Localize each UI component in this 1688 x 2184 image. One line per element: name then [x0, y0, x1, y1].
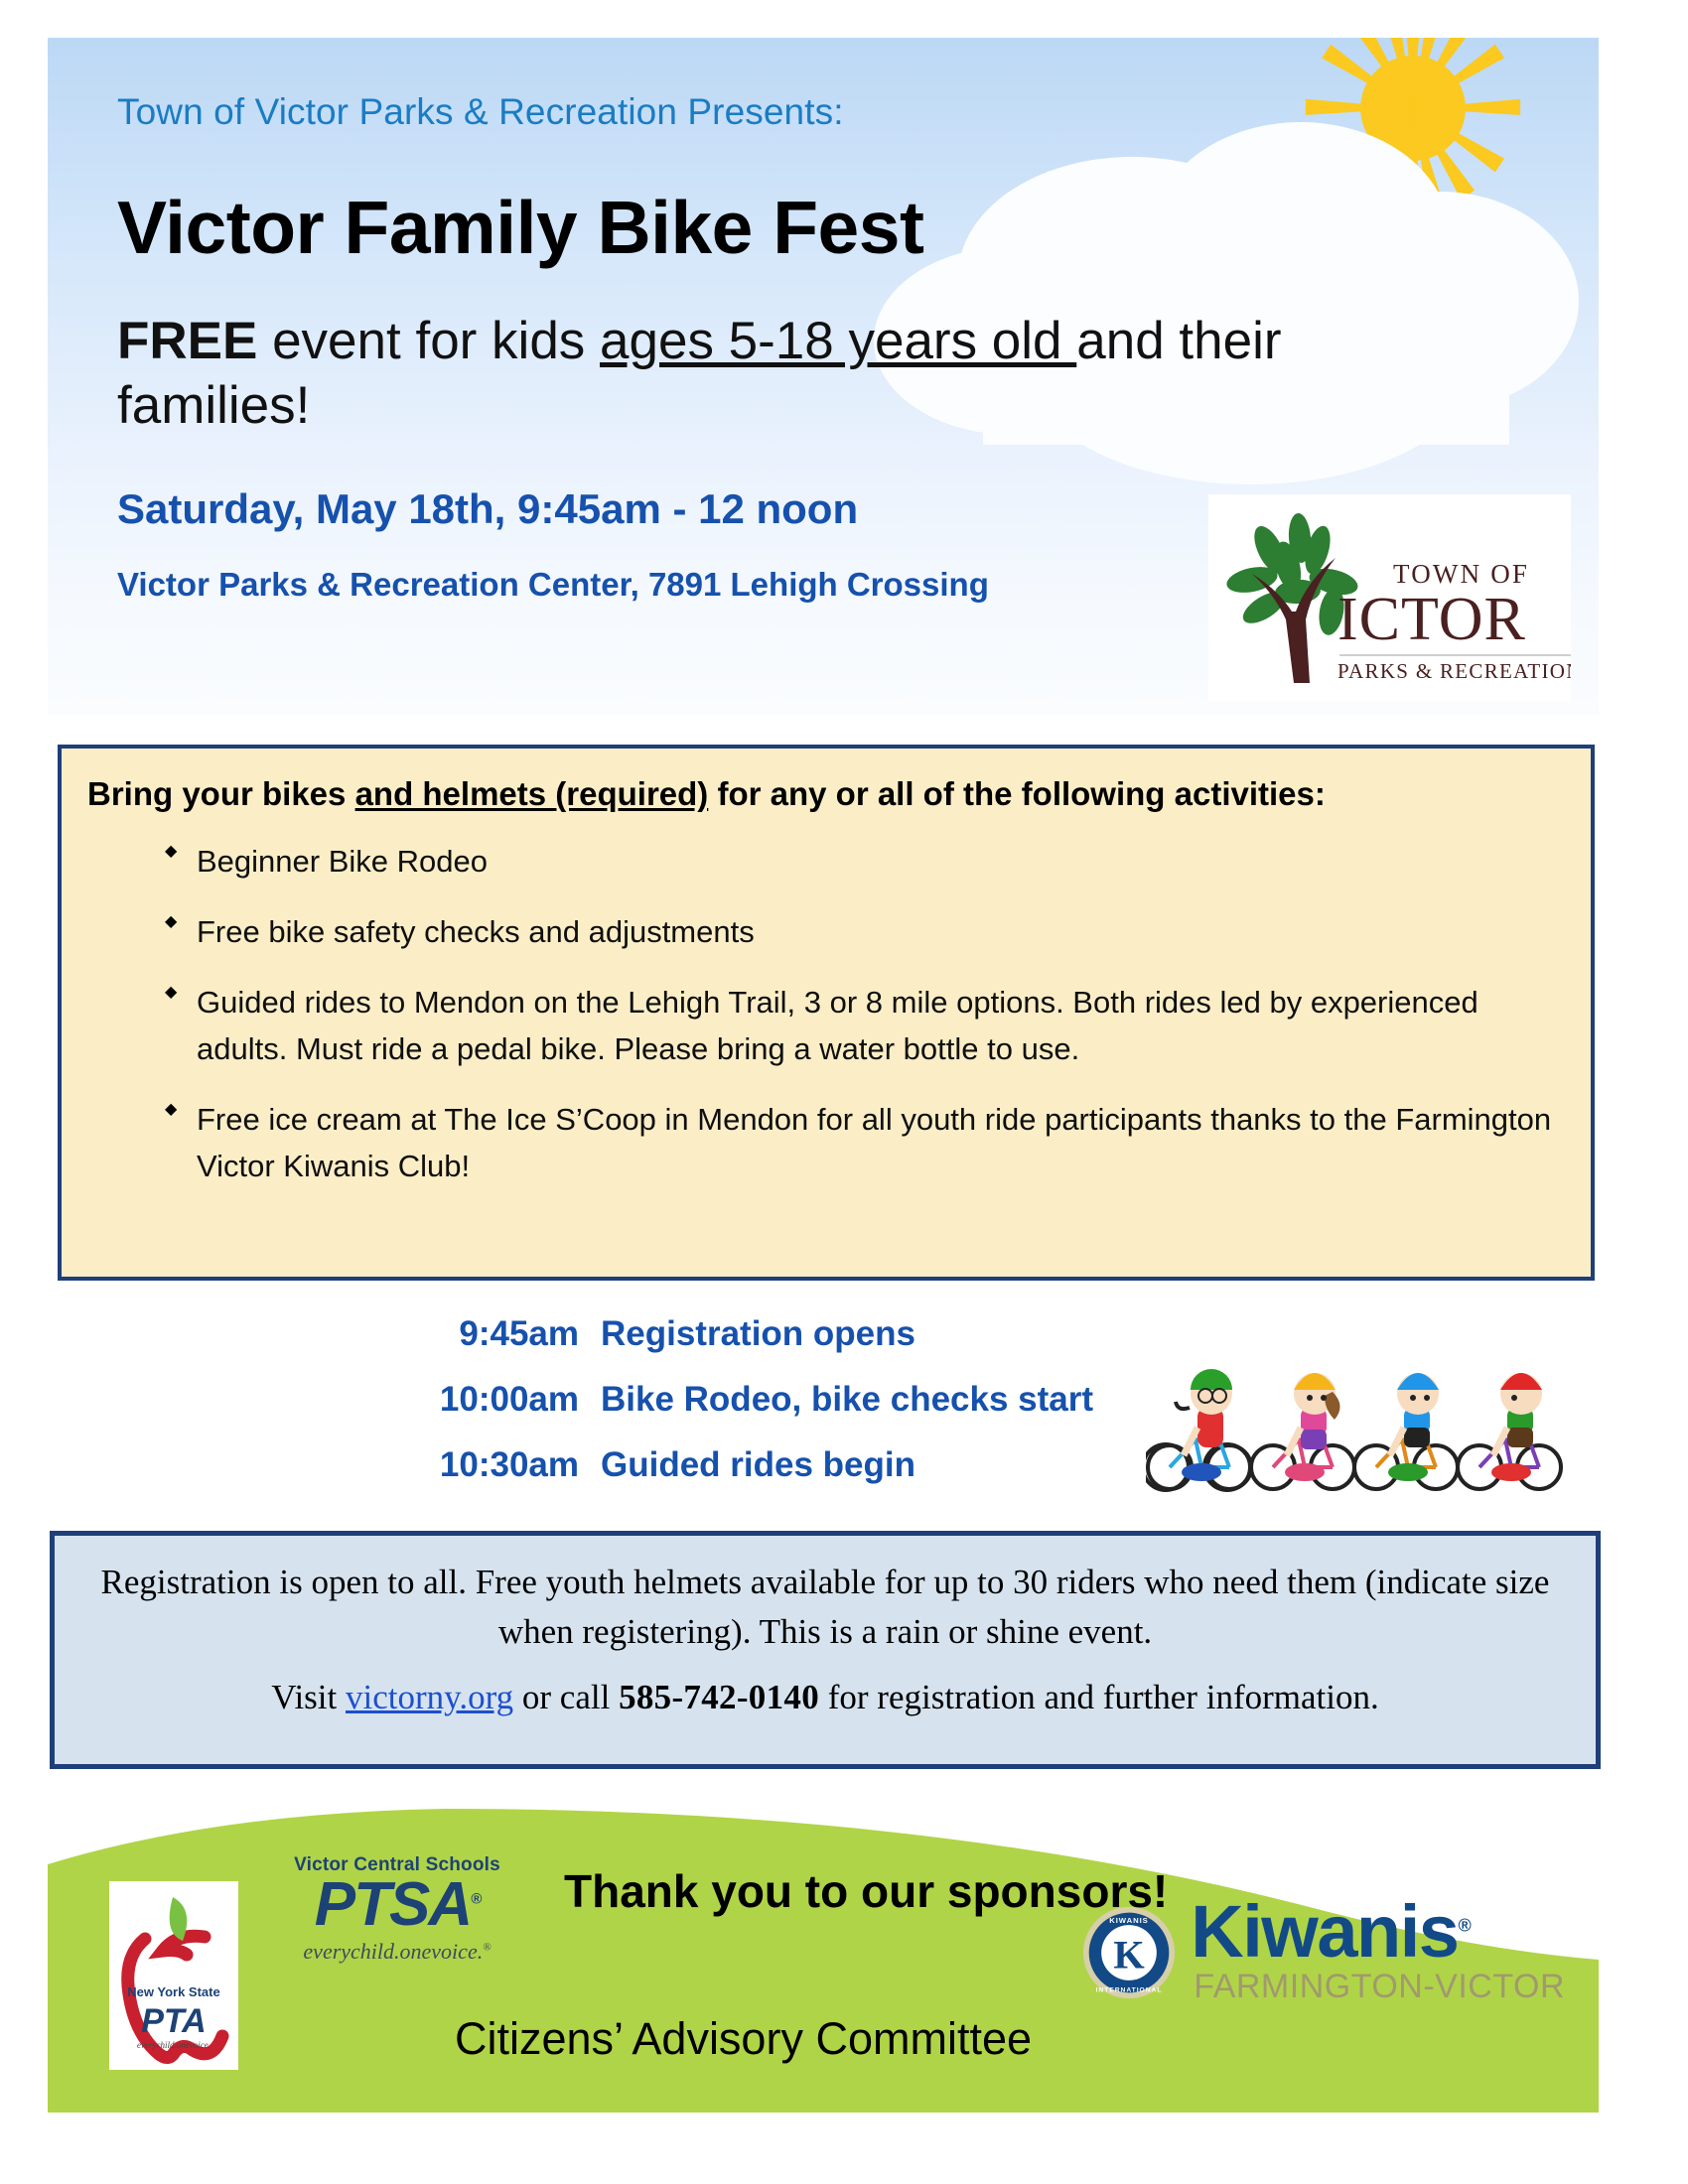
kiwanis-seal-icon: K KIWANIS INTERNATIONAL: [1081, 1905, 1177, 2000]
schedule-list: 9:45am Registration opens 10:00am Bike R…: [395, 1314, 1130, 1511]
kiwanis-name: Kiwanis®: [1191, 1898, 1565, 1966]
activities-heading-post: for any or all of the following activiti…: [708, 775, 1326, 812]
nys-pta-logo: New York State PTA everychild.onevoice.: [109, 1881, 238, 2070]
list-item: Free bike safety checks and adjustments: [165, 908, 1557, 955]
ages-underlined: ages 5-18 years old: [600, 312, 1076, 370]
page-title: Victor Family Bike Fest: [117, 185, 1599, 270]
visit-label: Visit: [271, 1678, 346, 1716]
free-mid-text: event for kids: [257, 312, 600, 370]
schedule-section: 9:45am Registration opens 10:00am Bike R…: [58, 1300, 1595, 1529]
registration-paragraph: Registration is open to all. Free youth …: [84, 1558, 1566, 1656]
schedule-row: 10:00am Bike Rodeo, bike checks start: [395, 1380, 1130, 1420]
schedule-label: Guided rides begin: [601, 1445, 915, 1485]
schedule-row: 9:45am Registration opens: [395, 1314, 1130, 1354]
list-item: Guided rides to Mendon on the Lehigh Tra…: [165, 979, 1557, 1072]
list-item: Beginner Bike Rodeo: [165, 838, 1557, 885]
svg-text:KIWANIS: KIWANIS: [1110, 1916, 1150, 1925]
kiwanis-chapter: FARMINGTON-VICTOR: [1194, 1968, 1565, 2006]
schedule-time: 10:30am: [395, 1445, 579, 1485]
ptsa-tagline: everychild.onevoice.®: [278, 1939, 516, 1965]
victor-logo-parks-rec: PARKS & RECREATION: [1337, 659, 1571, 684]
activities-box: Bring your bikes and helmets (required) …: [58, 745, 1595, 1281]
svg-text:New York State: New York State: [127, 1984, 219, 1999]
town-of-victor-logo: TOWN OF ICTOR PARKS & RECREATION: [1208, 494, 1571, 701]
ptsa-acronym-text: PTSA: [315, 1870, 471, 1939]
presents-line: Town of Victor Parks & Recreation Presen…: [117, 91, 1599, 133]
pta-apple-icon: New York State PTA everychild.onevoice.: [109, 1881, 238, 2070]
victor-logo-wordmark: TOWN OF ICTOR PARKS & RECREATION: [1337, 511, 1571, 684]
kiwanis-logo: K KIWANIS INTERNATIONAL Kiwanis® FARMING…: [1081, 1898, 1565, 2006]
schedule-row: 10:30am Guided rides begin: [395, 1445, 1130, 1485]
kiwanis-name-text: Kiwanis: [1191, 1890, 1458, 1973]
victor-logo-divider: [1339, 654, 1571, 656]
victor-ptsa-logo: Victor Central Schools PTSA® everychild.…: [278, 1854, 516, 1983]
schedule-label: Bike Rodeo, bike checks start: [601, 1380, 1093, 1420]
schedule-label: Registration opens: [601, 1314, 915, 1354]
list-item: Free ice cream at The Ice S’Coop in Mend…: [165, 1096, 1557, 1189]
sponsors-banner: New York State PTA everychild.onevoice. …: [48, 1787, 1599, 2113]
contact-paragraph: Visit victorny.org or call 585-742-0140 …: [84, 1678, 1566, 1717]
hero-section: Town of Victor Parks & Recreation Presen…: [48, 38, 1599, 715]
ptsa-tagline-text: everychild.onevoice.: [303, 1939, 483, 1964]
schedule-time: 10:00am: [395, 1380, 579, 1420]
svg-text:INTERNATIONAL: INTERNATIONAL: [1096, 1986, 1163, 1993]
ptsa-acronym: PTSA®: [278, 1876, 516, 1935]
kids-on-bikes-icon: [1146, 1308, 1573, 1497]
kiwanis-wordmark: Kiwanis® FARMINGTON-VICTOR: [1191, 1898, 1565, 2006]
svg-text:K: K: [1114, 1932, 1146, 1977]
or-call-label: or call: [513, 1678, 619, 1716]
svg-text:everychild.onevoice.: everychild.onevoice.: [137, 2040, 211, 2050]
activities-heading-pre: Bring your bikes: [87, 775, 355, 812]
registration-info-box: Registration is open to all. Free youth …: [50, 1531, 1601, 1769]
phone-number[interactable]: 585-742-0140: [619, 1678, 819, 1716]
citizens-advisory-committee-text: Citizens’ Advisory Committee: [455, 2013, 1032, 2065]
svg-text:PTA: PTA: [141, 2002, 206, 2040]
thank-you-sponsors-text: Thank you to our sponsors!: [564, 1864, 1168, 1918]
activities-heading: Bring your bikes and helmets (required) …: [87, 774, 1557, 814]
activities-heading-underlined: and helmets (required): [355, 775, 709, 812]
victor-logo-victor: ICTOR: [1337, 591, 1571, 650]
free-word: FREE: [117, 312, 257, 370]
contact-tail-text: for registration and further information…: [819, 1678, 1379, 1716]
website-link[interactable]: victorny.org: [346, 1678, 513, 1716]
activities-list: Beginner Bike Rodeo Free bike safety che…: [87, 838, 1557, 1190]
schedule-time: 9:45am: [395, 1314, 579, 1354]
flyer-page: Town of Victor Parks & Recreation Presen…: [0, 0, 1688, 2184]
free-event-line: FREE event for kids ages 5-18 years old …: [117, 310, 1468, 438]
